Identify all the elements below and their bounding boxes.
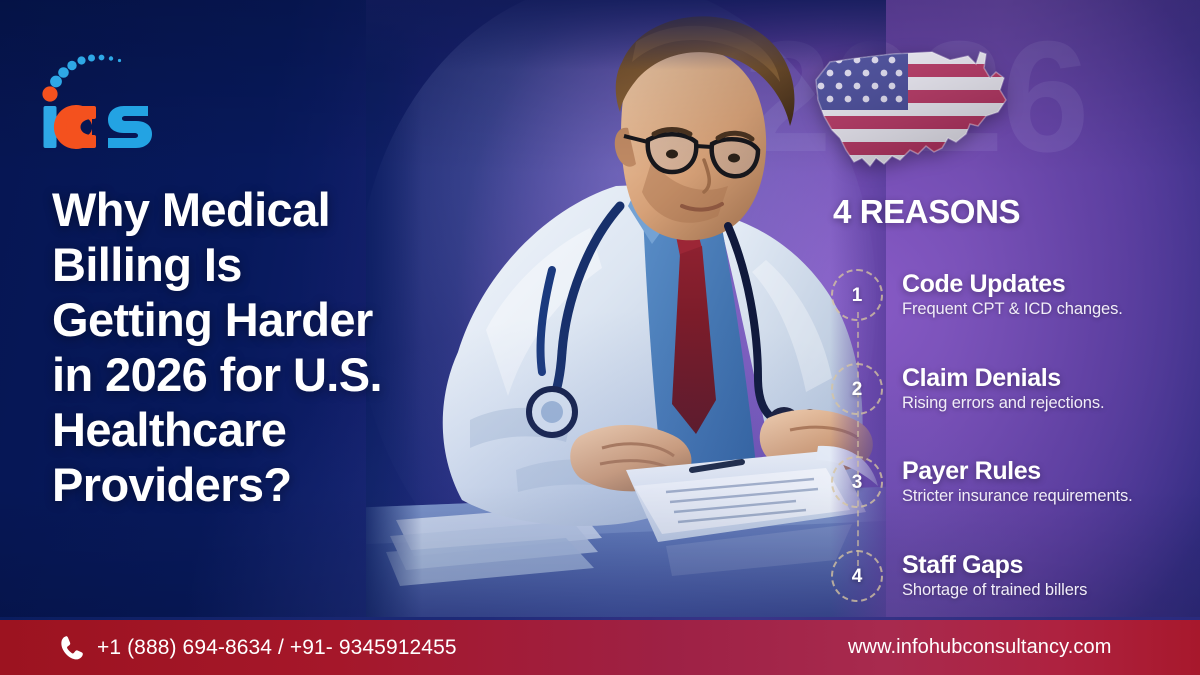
reasons-connector-line bbox=[857, 312, 859, 566]
list-item[interactable]: 4 Staff Gaps Shortage of trained billers bbox=[815, 543, 1190, 609]
reason-number: 1 bbox=[852, 286, 863, 305]
reason-number-badge: 2 bbox=[831, 363, 883, 415]
reason-title: Payer Rules bbox=[902, 457, 1133, 486]
contact-phone[interactable]: +1 (888) 694-8634 / +91- 9345912455 bbox=[60, 635, 457, 661]
reason-number-badge: 3 bbox=[831, 456, 883, 508]
reason-subtitle: Rising errors and rejections. bbox=[902, 393, 1105, 414]
list-item[interactable]: 1 Code Updates Frequent CPT & ICD change… bbox=[815, 262, 1190, 328]
headline-line: Why Medical bbox=[52, 182, 482, 237]
reason-subtitle: Stricter insurance requirements. bbox=[902, 486, 1133, 507]
phone-icon bbox=[60, 635, 84, 661]
reason-text-block: Staff Gaps Shortage of trained billers bbox=[902, 551, 1087, 601]
reasons-list: 1 Code Updates Frequent CPT & ICD change… bbox=[815, 262, 1190, 612]
reason-number: 3 bbox=[852, 473, 863, 492]
reasons-heading: 4 REASONS bbox=[833, 193, 1020, 231]
reason-text-block: Code Updates Frequent CPT & ICD changes. bbox=[902, 270, 1123, 320]
footer-bar: +1 (888) 694-8634 / +91- 9345912455 www.… bbox=[0, 620, 1200, 675]
us-flag-map-icon bbox=[800, 38, 1032, 190]
reason-title: Code Updates bbox=[902, 270, 1123, 299]
list-item[interactable]: 3 Payer Rules Stricter insurance require… bbox=[815, 449, 1190, 515]
reason-text-block: Claim Denials Rising errors and rejectio… bbox=[902, 364, 1105, 414]
reason-title: Claim Denials bbox=[902, 364, 1105, 393]
reason-number: 4 bbox=[852, 567, 863, 586]
reason-subtitle: Frequent CPT & ICD changes. bbox=[902, 299, 1123, 320]
reason-subtitle: Shortage of trained billers bbox=[902, 580, 1087, 601]
headline-line: Healthcare bbox=[52, 402, 482, 457]
list-item[interactable]: 2 Claim Denials Rising errors and reject… bbox=[815, 356, 1190, 422]
phone-number: +1 (888) 694-8634 / +91- 9345912455 bbox=[97, 636, 457, 660]
infographic-canvas: 2026 bbox=[0, 0, 1200, 675]
headline-line: Billing Is bbox=[52, 237, 482, 292]
headline-line: Getting Harder bbox=[52, 292, 482, 347]
ics-logo[interactable] bbox=[22, 38, 192, 150]
website-url[interactable]: www.infohubconsultancy.com bbox=[848, 636, 1111, 659]
page-title: Why Medical Billing Is Getting Harder in… bbox=[52, 182, 482, 512]
headline-line: Providers? bbox=[52, 457, 482, 512]
headline-line: in 2026 for U.S. bbox=[52, 347, 482, 402]
reason-title: Staff Gaps bbox=[902, 551, 1087, 580]
reason-number: 2 bbox=[852, 380, 863, 399]
reason-number-badge: 1 bbox=[831, 269, 883, 321]
reason-text-block: Payer Rules Stricter insurance requireme… bbox=[902, 457, 1133, 507]
reason-number-badge: 4 bbox=[831, 550, 883, 602]
